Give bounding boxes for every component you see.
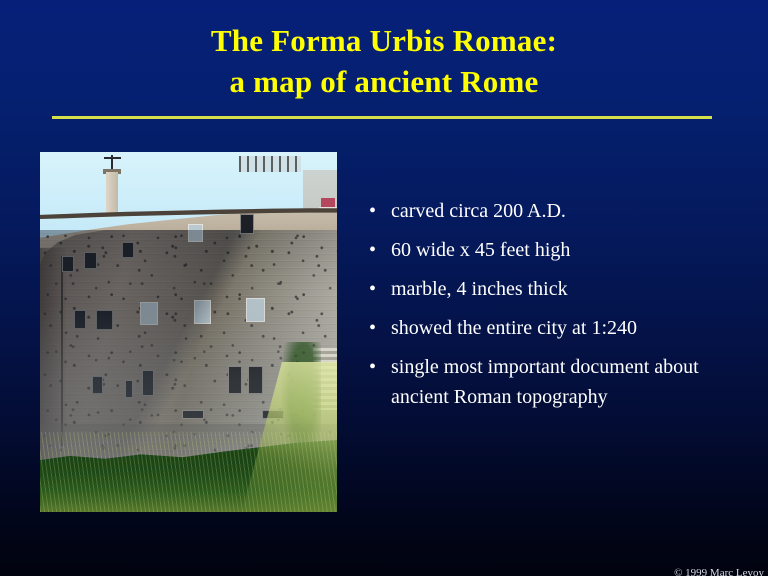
photo-window (92, 376, 103, 394)
photo-window (62, 256, 74, 272)
list-item-label: showed the entire city at 1:240 (391, 313, 752, 343)
list-item-label: carved circa 200 A.D. (391, 196, 752, 226)
slide-canvas: The Forma Urbis Romae: a map of ancient … (0, 0, 768, 576)
list-item: • marble, 4 inches thick (366, 274, 752, 304)
bullet-marker-icon: • (366, 235, 391, 265)
photo-window (74, 310, 86, 329)
photo-window (125, 380, 133, 398)
bullet-list: • carved circa 200 A.D. • 60 wide x 45 f… (366, 196, 752, 421)
list-item-label: 60 wide x 45 feet high (391, 235, 752, 265)
list-item-label: single most important document about anc… (391, 352, 752, 412)
list-item: • carved circa 200 A.D. (366, 196, 752, 226)
wall-photograph (40, 152, 337, 512)
title-line-2: a map of ancient Rome (0, 61, 768, 102)
bullet-marker-icon: • (366, 274, 391, 304)
copyright-notice: © 1999 Marc Levoy (674, 567, 764, 576)
photo-vent-slot (182, 410, 204, 419)
bullet-marker-icon: • (366, 313, 391, 343)
title-line-1: The Forma Urbis Romae: (0, 20, 768, 61)
photo-content (40, 152, 337, 512)
photo-rooftop-railing (239, 156, 301, 172)
photo-window (246, 298, 265, 322)
photo-window (228, 366, 242, 394)
list-item-label: marble, 4 inches thick (391, 274, 752, 304)
photo-window (122, 242, 134, 258)
photo-window (96, 310, 113, 330)
photo-window (240, 214, 254, 234)
photo-downpipe (61, 256, 63, 446)
photo-chimney (106, 172, 118, 214)
photo-pink-shutter (321, 198, 335, 207)
photo-window (142, 370, 154, 396)
photo-window (188, 224, 203, 242)
page-title: The Forma Urbis Romae: a map of ancient … (0, 20, 768, 102)
list-item: • 60 wide x 45 feet high (366, 235, 752, 265)
bullet-marker-icon: • (366, 196, 391, 226)
list-item: • showed the entire city at 1:240 (366, 313, 752, 343)
title-divider-rule (52, 116, 712, 119)
list-item: • single most important document about a… (366, 352, 752, 412)
photo-window (194, 300, 211, 324)
bullet-marker-icon: • (366, 352, 391, 382)
photo-window (140, 302, 158, 325)
photo-window (248, 366, 263, 394)
photo-window (126, 374, 128, 376)
photo-window (84, 252, 97, 269)
